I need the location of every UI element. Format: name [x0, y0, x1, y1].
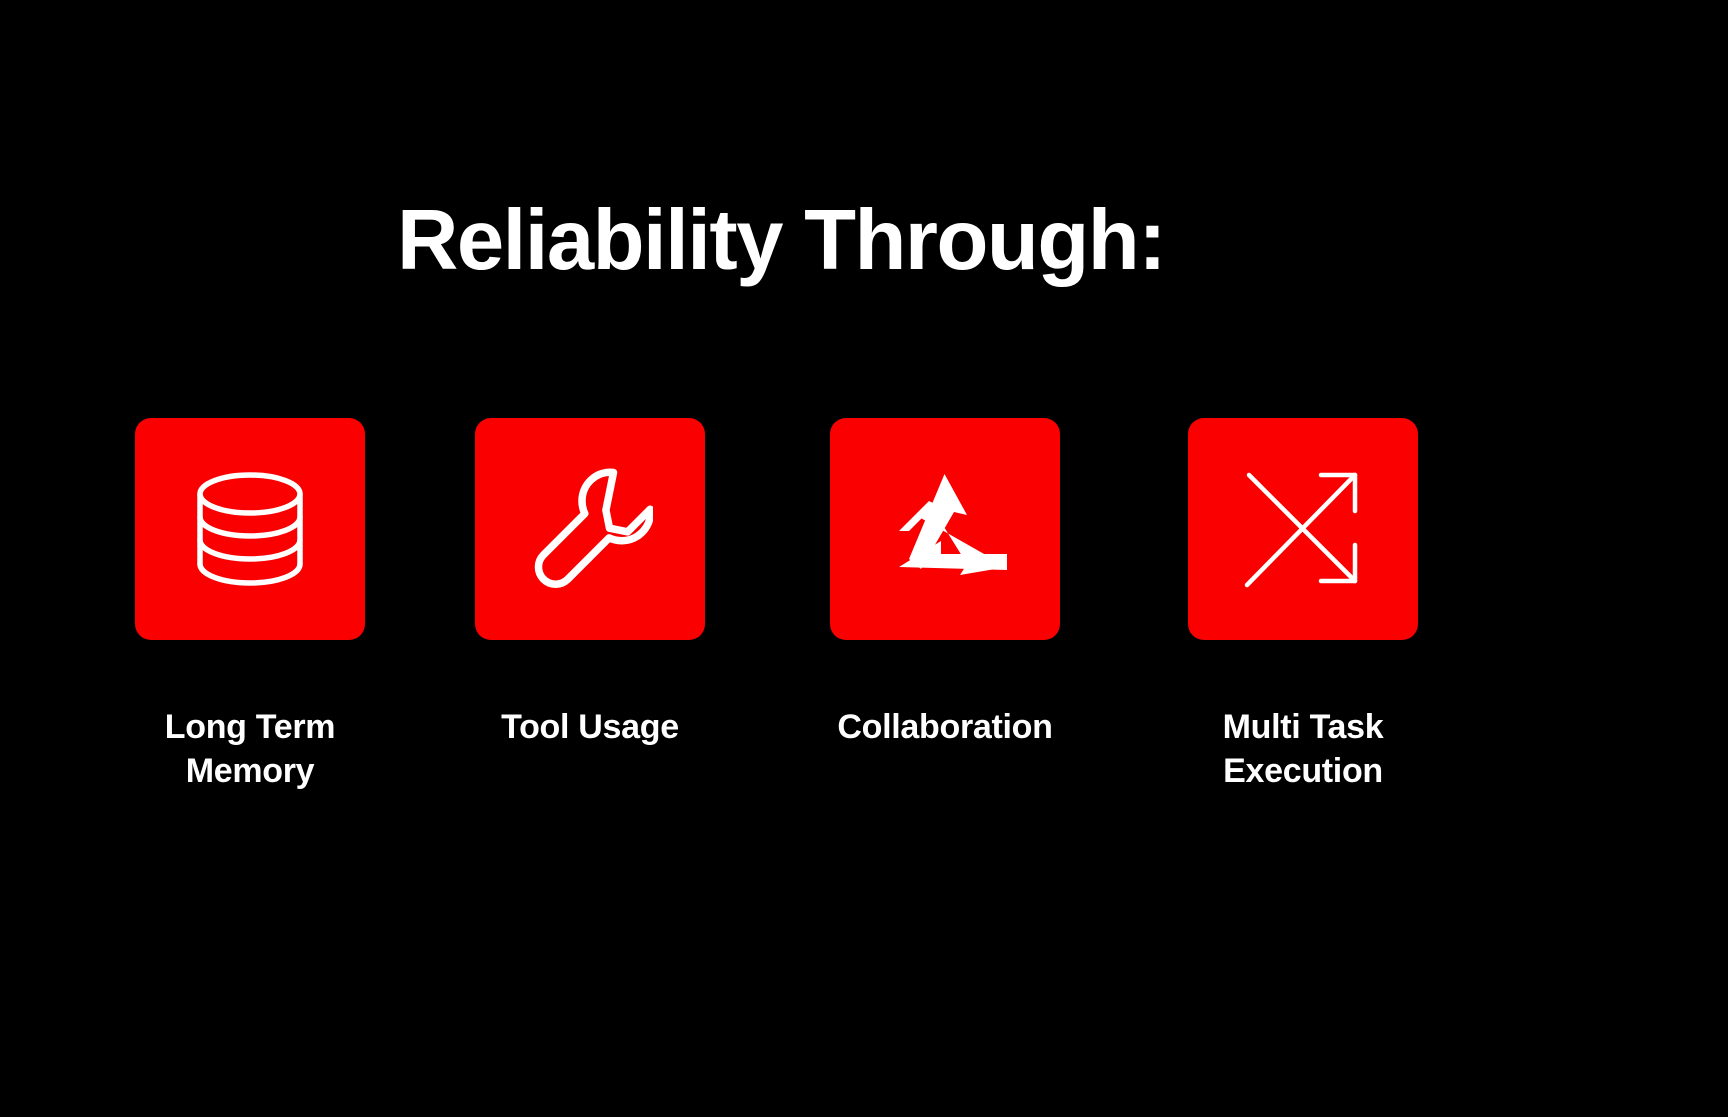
feature-card-label: Multi Task Execution [1188, 706, 1418, 793]
feature-card-label: Tool Usage [475, 706, 705, 750]
database-icon [194, 471, 306, 587]
feature-card-tool-usage[interactable]: Tool Usage [475, 418, 705, 750]
label-line-2: Memory [135, 750, 365, 794]
icon-tile[interactable] [830, 418, 1060, 640]
feature-card-multi-task-execution[interactable]: Multi Task Execution [1188, 418, 1418, 793]
label-line-2: Execution [1188, 750, 1418, 794]
feature-card-collaboration[interactable]: Collaboration [830, 418, 1060, 750]
label-line-1: Collaboration [837, 708, 1052, 746]
icon-tile[interactable] [1188, 418, 1418, 640]
icon-tile[interactable] [135, 418, 365, 640]
feature-card-long-term-memory[interactable]: Long Term Memory [135, 418, 365, 793]
slide-canvas: Reliability Through: Long Term [0, 0, 1728, 1117]
wrench-icon [527, 466, 653, 592]
recycle-cycle-icon [881, 471, 1009, 587]
shuffle-icon [1241, 467, 1365, 591]
feature-card-label: Long Term Memory [135, 706, 365, 793]
icon-tile[interactable] [475, 418, 705, 640]
feature-card-row: Long Term Memory Tool Usage [135, 418, 1418, 818]
page-title: Reliability Through: [0, 198, 1562, 283]
feature-card-label: Collaboration [830, 706, 1060, 750]
label-line-1: Multi Task [1223, 708, 1384, 746]
label-line-1: Long Term [165, 708, 335, 746]
label-line-1: Tool Usage [501, 708, 679, 746]
